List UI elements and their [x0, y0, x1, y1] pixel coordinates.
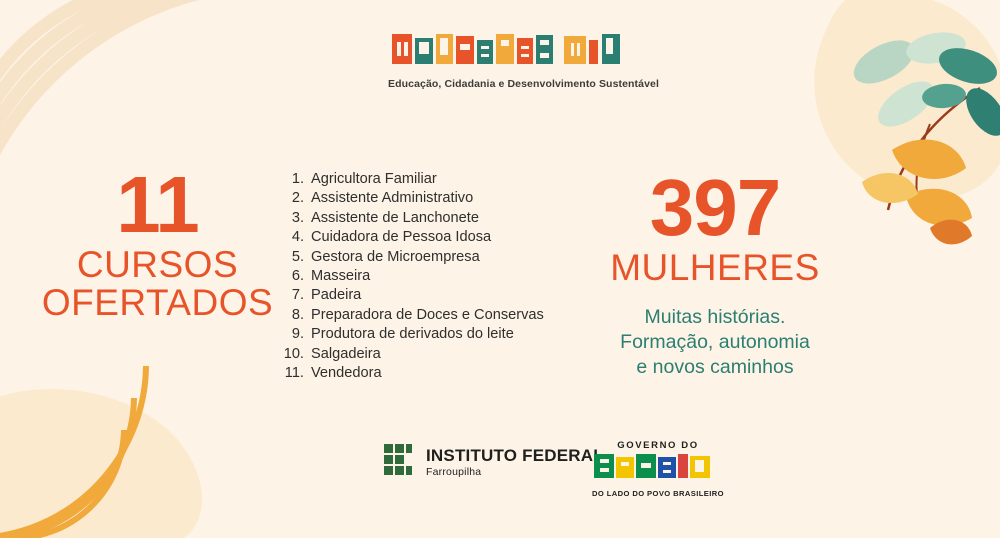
logo-wordmark	[388, 28, 628, 74]
list-item-number: 3.	[278, 209, 311, 228]
courses-label-line2: OFERTADOS	[40, 284, 275, 323]
governo-do-brasil-logo: GOVERNO DO DO LADO DO POVO BRASILEIRO	[588, 440, 728, 498]
list-item-label: Assistente Administrativo	[311, 189, 473, 208]
list-item-label: Masseira	[311, 267, 370, 286]
list-item-number: 11.	[278, 364, 311, 383]
courses-count-number: 11	[40, 168, 275, 242]
courses-label-line1: CURSOS	[40, 246, 275, 285]
list-item-number: 7.	[278, 286, 311, 305]
brasil-wordmark-icon	[588, 451, 728, 481]
tagline: Muitas histórias. Formação, autonomia e …	[590, 305, 840, 380]
tagline-line-1: Muitas histórias.	[590, 305, 840, 330]
list-item-label: Vendedora	[311, 364, 382, 383]
instituto-federal-campus: Farroupilha	[426, 467, 604, 478]
list-item-number: 9.	[278, 325, 311, 344]
course-list: 1.Agricultora Familiar 2.Assistente Admi…	[278, 170, 544, 383]
list-item: 3.Assistente de Lanchonete	[278, 209, 544, 228]
governo-bottom-label: DO LADO DO POVO BRASILEIRO	[588, 489, 728, 498]
poster-canvas: Educação, Cidadania e Desenvolvimento Su…	[0, 0, 1000, 538]
list-item-number: 4.	[278, 228, 311, 247]
list-item-label: Cuidadora de Pessoa Idosa	[311, 228, 491, 247]
list-item-label: Gestora de Microempresa	[311, 248, 480, 267]
list-item-number: 6.	[278, 267, 311, 286]
list-item: 10.Salgadeira	[278, 345, 544, 364]
women-count-label: MULHERES	[590, 248, 840, 289]
mulheres-mil-logo-icon	[388, 28, 628, 74]
list-item: 6.Masseira	[278, 267, 544, 286]
tagline-line-2: Formação, autonomia	[590, 330, 840, 355]
logo-tagline: Educação, Cidadania e Desenvolvimento Su…	[388, 78, 628, 90]
list-item-label: Padeira	[311, 286, 361, 305]
courses-count-block: 11 CURSOS OFERTADOS	[40, 168, 275, 323]
tagline-line-3: e novos caminhos	[590, 355, 840, 380]
list-item-number: 5.	[278, 248, 311, 267]
instituto-federal-mark-icon	[384, 444, 418, 480]
list-item-label: Preparadora de Doces e Conservas	[311, 306, 544, 325]
list-item: 2.Assistente Administrativo	[278, 189, 544, 208]
governo-top-label: GOVERNO DO	[588, 440, 728, 451]
list-item: 9.Produtora de derivados do leite	[278, 325, 544, 344]
list-item-label: Agricultora Familiar	[311, 170, 437, 189]
list-item-label: Salgadeira	[311, 345, 381, 364]
list-item: 7.Padeira	[278, 286, 544, 305]
brand-logo: Educação, Cidadania e Desenvolvimento Su…	[388, 28, 628, 90]
list-item: 4.Cuidadora de Pessoa Idosa	[278, 228, 544, 247]
list-item: 1.Agricultora Familiar	[278, 170, 544, 189]
list-item-label: Produtora de derivados do leite	[311, 325, 514, 344]
list-item-number: 2.	[278, 189, 311, 208]
list-item: 11.Vendedora	[278, 364, 544, 383]
instituto-federal-name: INSTITUTO FEDERAL	[426, 447, 604, 464]
list-item: 5.Gestora de Microempresa	[278, 248, 544, 267]
list-item-number: 10.	[278, 345, 311, 364]
list-item-number: 1.	[278, 170, 311, 189]
women-count-block: 397 MULHERES Muitas histórias. Formação,…	[590, 170, 840, 380]
list-item: 8.Preparadora de Doces e Conservas	[278, 306, 544, 325]
women-count-number: 397	[590, 170, 840, 246]
list-item-label: Assistente de Lanchonete	[311, 209, 479, 228]
instituto-federal-logo: INSTITUTO FEDERAL Farroupilha	[384, 444, 604, 480]
list-item-number: 8.	[278, 306, 311, 325]
